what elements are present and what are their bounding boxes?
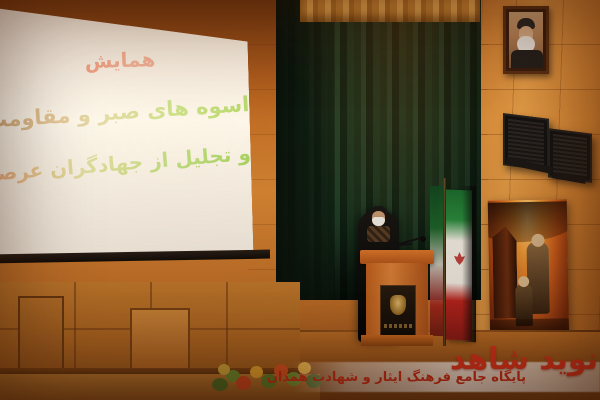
flower-leaf	[212, 378, 228, 391]
flower-bloom	[236, 376, 251, 390]
podium-top	[360, 250, 434, 264]
slide-line-2: اسوه های صبر و مقاومت	[0, 92, 250, 132]
watermark: نوید شاهد پایگاه جامع فرهنگ ایثار و شهاد…	[292, 340, 600, 400]
slide-line-3: و تجلیل از جهادگران عرصه سلامت	[0, 141, 252, 185]
wooden-podium	[366, 250, 428, 346]
microphone-head	[420, 236, 426, 242]
commemorative-poster	[488, 199, 569, 343]
screenshot-root: همایش اسوه های صبر و مقاومت و تجلیل از ج…	[0, 0, 600, 400]
slide-line-1: همایش	[0, 45, 248, 76]
projection-screen: همایش اسوه های صبر و مقاومت و تجلیل از ج…	[0, 0, 260, 266]
presenter-scarf	[367, 226, 390, 242]
watermark-subtitle: پایگاه جامع فرهنگ ایثار و شهادت همدان	[267, 370, 526, 385]
projection-screen-surface: همایش اسوه های صبر و مقاومت و تجلیل از ج…	[0, 0, 253, 258]
podium-plaque-text	[384, 324, 412, 328]
framed-portrait	[503, 6, 549, 74]
portrait-robe	[511, 50, 543, 68]
flower-bloom	[250, 366, 263, 378]
slide-content: همایش اسوه های صبر و مقاومت و تجلیل از ج…	[0, 0, 253, 258]
loudspeaker-grill	[553, 134, 587, 177]
podium-gold-emblem	[390, 295, 406, 315]
flower-bloom	[218, 364, 230, 375]
flag-shadow	[462, 186, 476, 343]
curtain-valance	[300, 0, 480, 22]
podium-body	[366, 263, 428, 335]
portrait-image	[509, 12, 543, 68]
poster-tower	[492, 226, 518, 318]
